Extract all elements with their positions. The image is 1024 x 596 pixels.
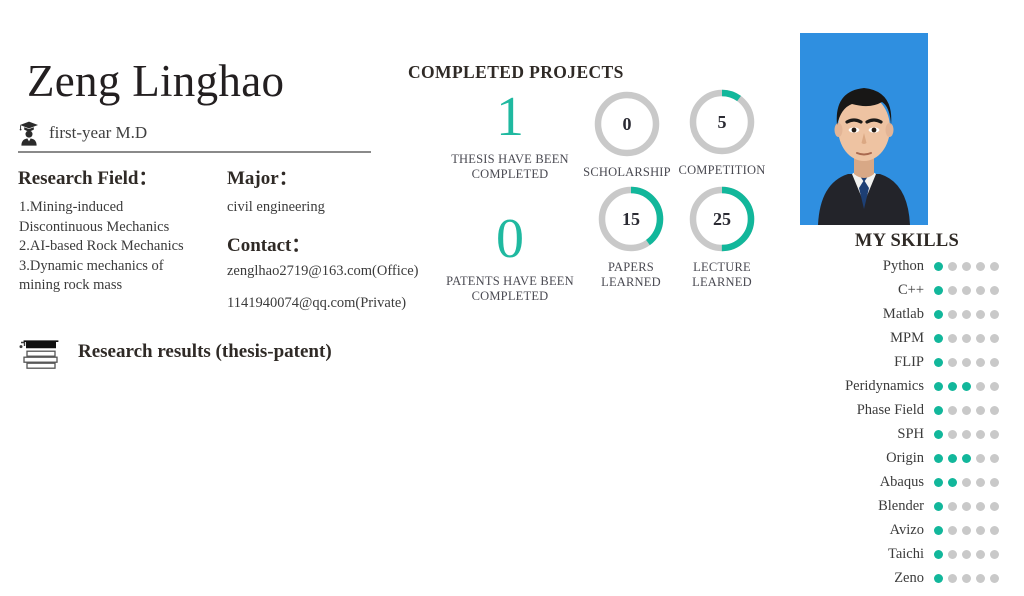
list-item: Discontinuous Mechanics (19, 218, 209, 238)
completed-projects-section: COMPLETED PROJECTS 1 THESIS HAVE BEEN CO… (400, 0, 790, 596)
skill-label: Zeno (790, 570, 934, 587)
stat-papers: 15 PAPERS LEARNED (581, 183, 681, 290)
skill-dot-empty (976, 574, 985, 583)
skill-label: Blender (790, 498, 934, 515)
skill-dot-empty (962, 310, 971, 319)
skill-row: Phase Field (790, 398, 1024, 422)
skill-dot-filled (934, 574, 943, 583)
skill-dot-empty (962, 574, 971, 583)
skill-dot-empty (948, 310, 957, 319)
skill-dot-empty (962, 502, 971, 511)
skill-row: Abaqus (790, 470, 1024, 494)
skill-dot-empty (976, 430, 985, 439)
skill-row: Zeno (790, 566, 1024, 590)
stat-thesis: 1 THESIS HAVE BEEN COMPLETED (420, 86, 600, 182)
skill-dot-filled (934, 526, 943, 535)
stat-competition: 5 COMPETITION (672, 86, 772, 178)
skill-dot-empty (976, 526, 985, 535)
skill-dot-empty (962, 430, 971, 439)
skill-row: Matlab (790, 302, 1024, 326)
donut-lecture: 25 (686, 183, 758, 255)
skill-dot-empty (962, 286, 971, 295)
donut-papers: 15 (595, 183, 667, 255)
skill-dot-empty (990, 526, 999, 535)
skill-dot-filled (934, 478, 943, 487)
avatar (800, 33, 928, 225)
skill-dot-filled (934, 382, 943, 391)
stat-scholarship-label: SCHOLARSHIP (577, 165, 677, 180)
graduate-person-icon (18, 120, 40, 146)
skill-dot-empty (948, 358, 957, 367)
skill-label: C++ (790, 282, 934, 299)
skill-dot-empty (990, 454, 999, 463)
completed-projects-title: COMPLETED PROJECTS (408, 62, 624, 83)
skill-row: Peridynamics (790, 374, 1024, 398)
skill-dot-filled (934, 430, 943, 439)
stat-lecture: 25 LECTURE LEARNED (672, 183, 772, 290)
skill-row: Python (790, 254, 1024, 278)
skill-row: Taichi (790, 542, 1024, 566)
skill-dot-empty (962, 406, 971, 415)
skill-dot-empty (948, 550, 957, 559)
skill-dot-empty (990, 502, 999, 511)
skill-level-dots (934, 574, 999, 583)
skill-label: Python (790, 258, 934, 275)
skill-level-dots (934, 406, 999, 415)
skill-dot-empty (976, 358, 985, 367)
skill-dot-filled (934, 262, 943, 271)
skill-dot-filled (948, 454, 957, 463)
major-heading: Major： (227, 163, 298, 190)
skill-dot-filled (934, 454, 943, 463)
graduation-cap-books-icon (18, 332, 62, 372)
skill-level-dots (934, 334, 999, 343)
skill-dot-empty (976, 454, 985, 463)
skill-level-dots (934, 502, 999, 511)
stat-patent: 0 PATENTS HAVE BEEN COMPLETED (420, 208, 600, 304)
skill-dot-empty (962, 358, 971, 367)
skill-dot-empty (948, 286, 957, 295)
skill-dot-empty (990, 286, 999, 295)
skill-level-dots (934, 478, 999, 487)
contact-email-private[interactable]: 1141940074@qq.com(Private) (227, 295, 406, 312)
page-title: Zeng Linghao (27, 55, 284, 107)
skill-label: Abaqus (790, 474, 934, 491)
skill-dot-empty (990, 430, 999, 439)
skill-dot-empty (990, 574, 999, 583)
skill-dot-empty (948, 262, 957, 271)
list-item: mining rock mass (19, 276, 209, 296)
skill-label: FLIP (790, 354, 934, 371)
stat-patent-value: 0 (420, 208, 600, 270)
skill-label: Phase Field (790, 402, 934, 419)
skill-dot-filled (934, 550, 943, 559)
skill-label: Taichi (790, 546, 934, 563)
research-field-list: 1.Mining-induced Discontinuous Mechanics… (19, 198, 209, 296)
skill-dot-empty (976, 550, 985, 559)
skill-dot-empty (948, 406, 957, 415)
skill-dot-filled (962, 382, 971, 391)
skill-dot-filled (934, 310, 943, 319)
stat-lecture-value: 25 (686, 183, 758, 255)
skill-dot-empty (990, 262, 999, 271)
contact-email-office[interactable]: zenglhao2719@163.com(Office) (227, 263, 418, 280)
skill-row: FLIP (790, 350, 1024, 374)
skill-dot-empty (990, 406, 999, 415)
stat-competition-label: COMPETITION (672, 163, 772, 178)
stat-thesis-value: 1 (420, 86, 600, 148)
degree-status-row: first-year M.D (18, 120, 147, 146)
skills-title: MY SKILLS (790, 231, 1024, 252)
skill-dot-empty (962, 478, 971, 487)
skill-level-dots (934, 358, 999, 367)
skill-dot-empty (948, 334, 957, 343)
skill-label: Peridynamics (790, 378, 934, 395)
skill-row: MPM (790, 326, 1024, 350)
header-divider (18, 151, 371, 153)
skill-dot-filled (934, 406, 943, 415)
portrait-photo (800, 33, 928, 225)
skill-dot-empty (990, 334, 999, 343)
skill-dot-empty (990, 358, 999, 367)
research-field-heading: Research Field： (18, 163, 158, 190)
skill-level-dots (934, 382, 999, 391)
stat-papers-label: PAPERS LEARNED (581, 260, 681, 290)
skill-dot-empty (990, 478, 999, 487)
list-item: 1.Mining-induced (19, 198, 209, 218)
stat-competition-value: 5 (686, 86, 758, 158)
skills-column: MY SKILLS PythonC++MatlabMPMFLIPPeridyna… (790, 0, 1024, 596)
skill-dot-empty (948, 502, 957, 511)
skill-level-dots (934, 286, 999, 295)
skill-dot-filled (962, 454, 971, 463)
skill-level-dots (934, 430, 999, 439)
stat-patent-label: PATENTS HAVE BEEN COMPLETED (420, 274, 600, 304)
skill-dot-empty (948, 526, 957, 535)
skill-row: C++ (790, 278, 1024, 302)
skill-level-dots (934, 550, 999, 559)
skill-level-dots (934, 310, 999, 319)
stat-scholarship: 0 SCHOLARSHIP (577, 88, 677, 180)
list-item: 3.Dynamic mechanics of (19, 257, 209, 277)
degree-status-label: first-year M.D (49, 123, 147, 143)
skill-dot-empty (976, 310, 985, 319)
stat-papers-value: 15 (595, 183, 667, 255)
skill-level-dots (934, 526, 999, 535)
skill-dot-filled (934, 334, 943, 343)
stat-lecture-label: LECTURE LEARNED (672, 260, 772, 290)
donut-scholarship: 0 (591, 88, 663, 160)
skill-dot-empty (962, 262, 971, 271)
research-results-label: Research results (thesis-patent) (78, 341, 332, 363)
skill-dot-filled (948, 382, 957, 391)
skills-list: PythonC++MatlabMPMFLIPPeridynamicsPhase … (790, 254, 1024, 590)
list-item: 2.AI-based Rock Mechanics (19, 237, 209, 257)
major-value: civil engineering (227, 199, 325, 216)
skill-dot-empty (976, 286, 985, 295)
skill-dot-empty (962, 526, 971, 535)
contact-heading: Contact： (227, 230, 310, 257)
profile-column: Zeng Linghao first-year M.D Research Fie… (0, 0, 400, 596)
skill-level-dots (934, 262, 999, 271)
resume-infographic: Zeng Linghao first-year M.D Research Fie… (0, 0, 1024, 596)
skill-row: Blender (790, 494, 1024, 518)
skill-dot-empty (976, 502, 985, 511)
skill-dot-empty (990, 310, 999, 319)
skill-label: Avizo (790, 522, 934, 539)
skill-dot-empty (990, 382, 999, 391)
skill-dot-empty (962, 334, 971, 343)
skill-dot-empty (962, 550, 971, 559)
skill-dot-empty (976, 478, 985, 487)
skill-label: MPM (790, 330, 934, 347)
skill-dot-empty (976, 262, 985, 271)
skill-row: Avizo (790, 518, 1024, 542)
skill-dot-filled (934, 358, 943, 367)
skill-dot-empty (976, 406, 985, 415)
research-results-row: Research results (thesis-patent) (18, 332, 332, 372)
skill-dot-filled (948, 478, 957, 487)
skill-label: Matlab (790, 306, 934, 323)
skill-label: Origin (790, 450, 934, 467)
stat-thesis-label: THESIS HAVE BEEN COMPLETED (420, 152, 600, 182)
skill-dot-empty (948, 430, 957, 439)
skill-row: Origin (790, 446, 1024, 470)
donut-competition: 5 (686, 86, 758, 158)
stat-scholarship-value: 0 (591, 88, 663, 160)
skill-dot-empty (948, 574, 957, 583)
skill-label: SPH (790, 426, 934, 443)
skill-dot-empty (990, 550, 999, 559)
skill-dot-filled (934, 286, 943, 295)
skill-dot-filled (934, 502, 943, 511)
skill-dot-empty (976, 334, 985, 343)
skill-level-dots (934, 454, 999, 463)
skill-row: SPH (790, 422, 1024, 446)
skill-dot-empty (976, 382, 985, 391)
